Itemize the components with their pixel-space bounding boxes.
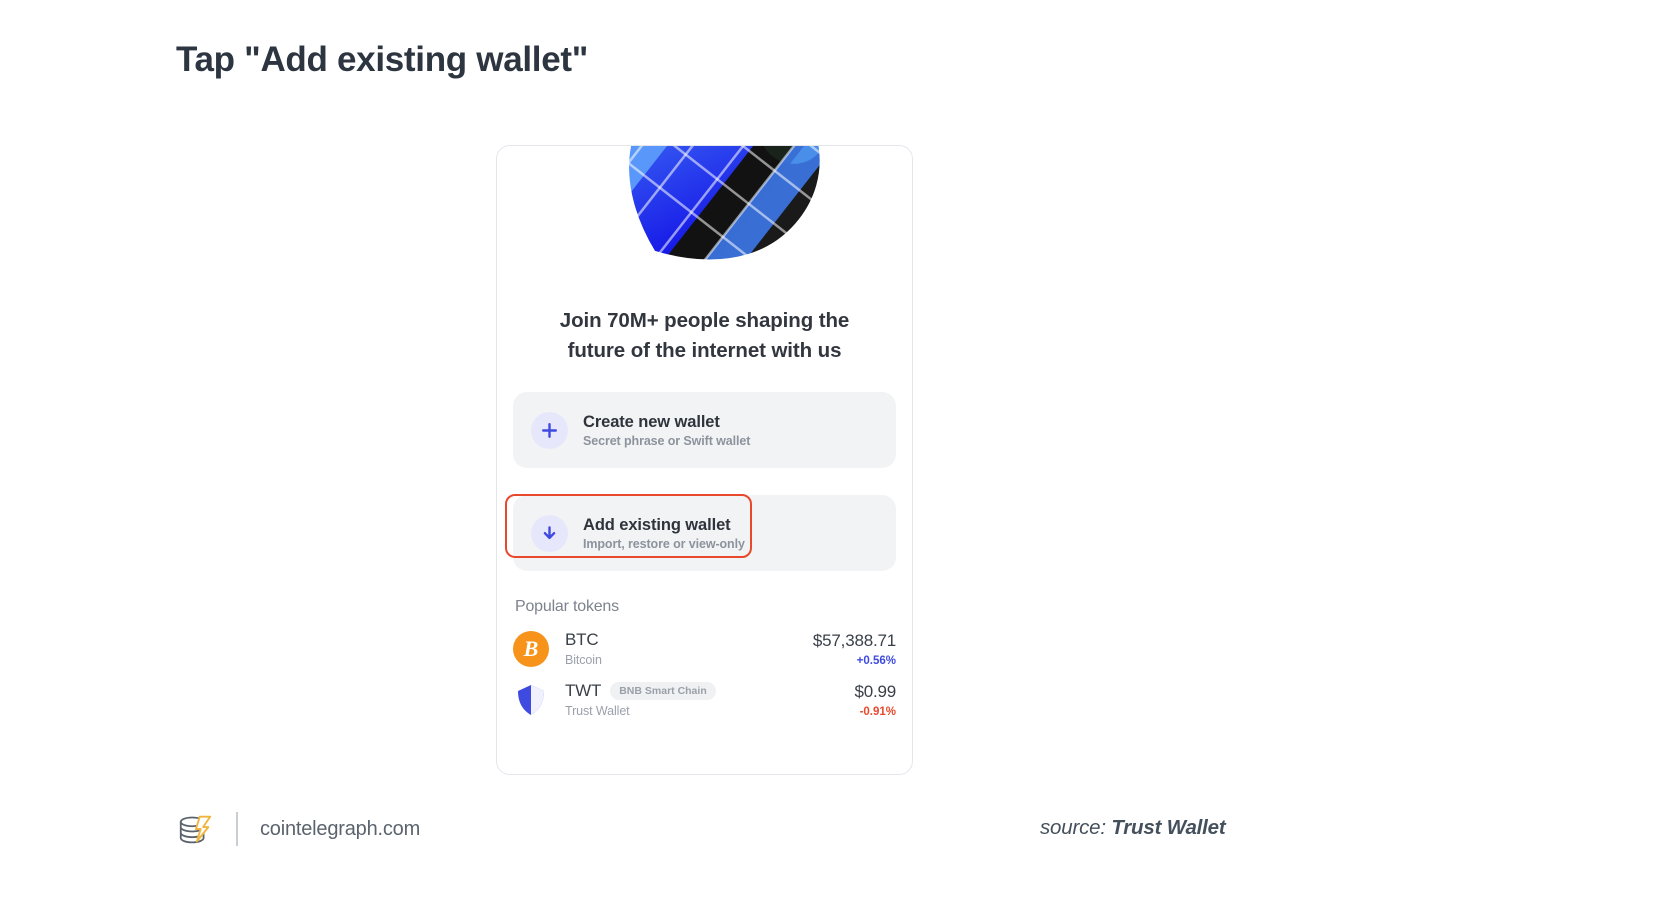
add-existing-wallet-title: Add existing wallet: [583, 516, 731, 534]
token-symbol: BTC: [565, 630, 598, 650]
hero-headline: Join 70M+ people shaping the future of t…: [531, 306, 878, 366]
add-existing-wallet-text: Add existing wallet Import, restore or v…: [583, 516, 745, 551]
download-arrow-icon: [531, 515, 568, 552]
token-symbol-line: TWT BNB Smart Chain: [565, 681, 854, 701]
token-row[interactable]: TWT BNB Smart Chain Trust Wallet $0.99 -…: [497, 667, 912, 718]
token-symbol: TWT: [565, 681, 601, 701]
cointelegraph-logo-icon: [176, 810, 214, 848]
create-wallet-option-wrap: Create new wallet Secret phrase or Swift…: [497, 392, 912, 468]
token-chain-chip: BNB Smart Chain: [610, 682, 716, 700]
globe-shield-icon: [603, 146, 833, 284]
bitcoin-glyph: B: [524, 638, 539, 660]
footer-divider: [236, 812, 238, 846]
create-new-wallet-text: Create new wallet Secret phrase or Swift…: [583, 413, 750, 448]
create-new-wallet-subtitle: Secret phrase or Swift wallet: [583, 434, 750, 448]
footer-source-label: source:: [1040, 816, 1106, 839]
create-new-wallet-title: Create new wallet: [583, 413, 720, 431]
token-name: Trust Wallet: [565, 704, 854, 718]
create-new-wallet-button[interactable]: Create new wallet Secret phrase or Swift…: [513, 392, 896, 468]
footer-domain: cointelegraph.com: [260, 818, 420, 841]
footer-source: source: Trust Wallet: [1040, 816, 1226, 840]
token-info: TWT BNB Smart Chain Trust Wallet: [565, 681, 854, 718]
token-price: $0.99: [854, 682, 896, 702]
bitcoin-icon: B: [513, 631, 549, 667]
popular-tokens-section: Popular tokens: [497, 598, 912, 616]
add-existing-wallet-button[interactable]: Add existing wallet Import, restore or v…: [513, 495, 896, 571]
trust-wallet-icon: [513, 682, 549, 718]
token-symbol-line: BTC: [565, 630, 813, 650]
token-price-block: $0.99 -0.91%: [854, 682, 896, 718]
token-change: +0.56%: [813, 655, 896, 667]
token-price: $57,388.71: [813, 631, 896, 651]
popular-tokens-label: Popular tokens: [515, 598, 896, 616]
add-existing-wallet-subtitle: Import, restore or view-only: [583, 537, 745, 551]
token-price-block: $57,388.71 +0.56%: [813, 631, 896, 667]
token-row[interactable]: B BTC Bitcoin $57,388.71 +0.56%: [497, 616, 912, 667]
footer: cointelegraph.com source: Trust Wallet: [0, 800, 1656, 870]
token-info: BTC Bitcoin: [565, 630, 813, 667]
footer-source-value: Trust Wallet: [1111, 816, 1225, 839]
add-wallet-option-wrap: Add existing wallet Import, restore or v…: [497, 495, 912, 571]
plus-icon: [531, 412, 568, 449]
footer-brand: cointelegraph.com: [176, 810, 420, 848]
token-name: Bitcoin: [565, 653, 813, 667]
token-change: -0.91%: [854, 706, 896, 718]
page-title: Tap "Add existing wallet": [176, 40, 588, 80]
hero-illustration: [497, 146, 912, 296]
slide-canvas: Tap "Add existing wallet": [0, 0, 1656, 898]
phone-screenshot-card: Join 70M+ people shaping the future of t…: [496, 145, 913, 775]
